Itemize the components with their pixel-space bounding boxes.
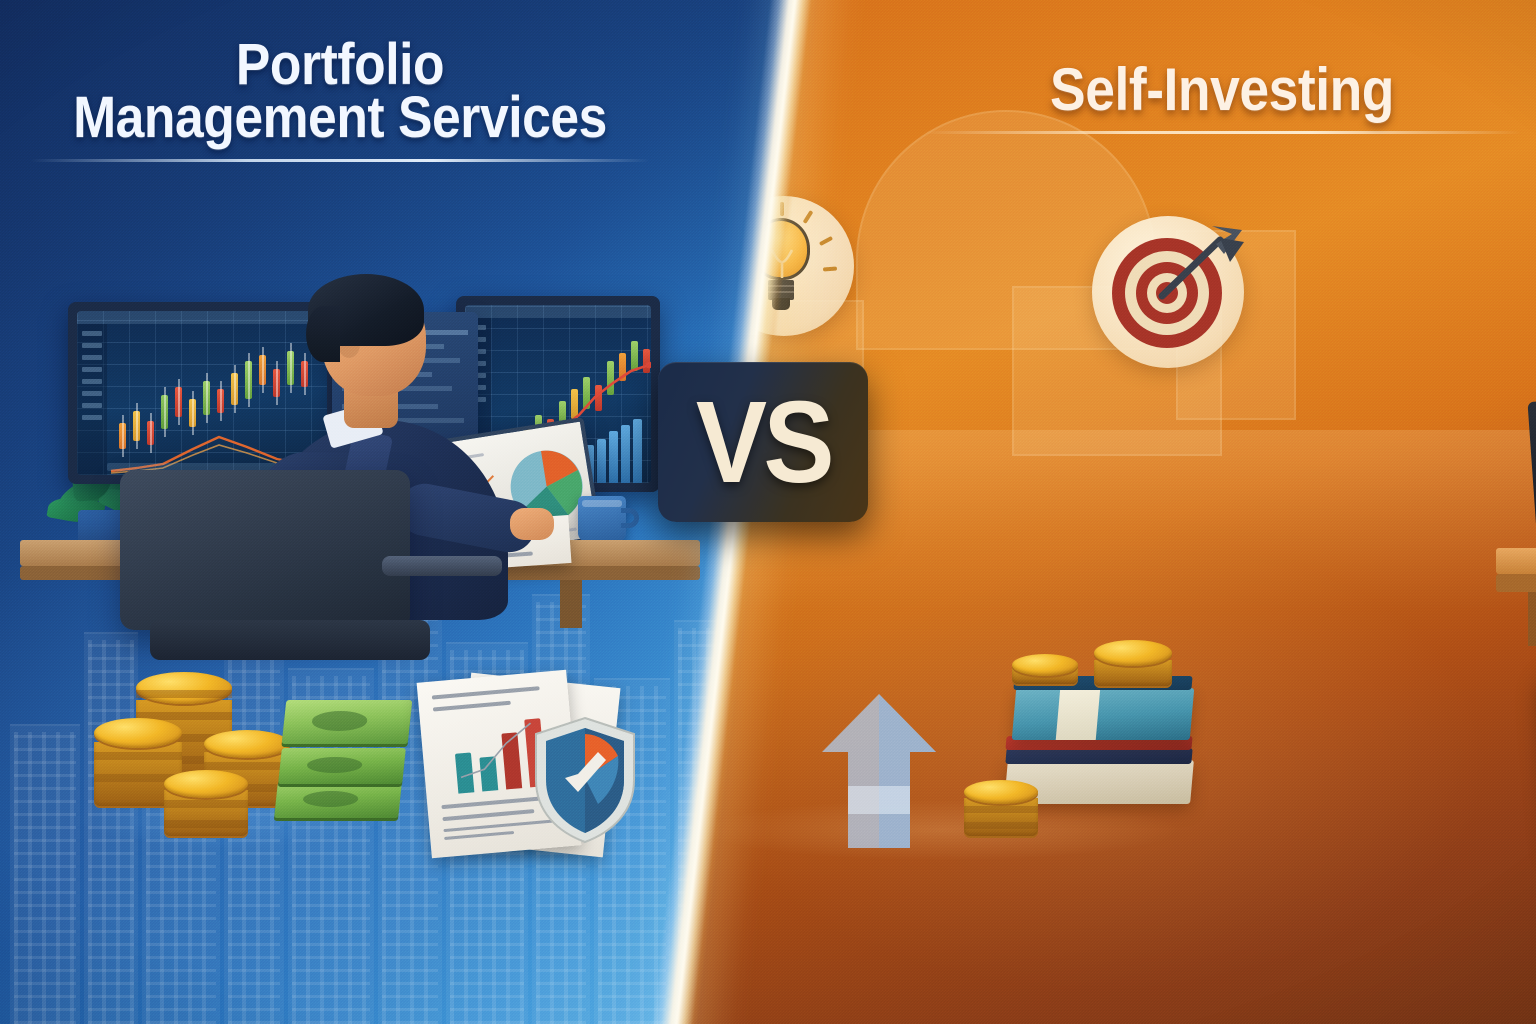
left-title-line1: Portfolio: [64, 38, 616, 91]
office-chair-left-seat: [150, 620, 430, 660]
vs-badge: VS: [658, 362, 868, 522]
right-title-line1: Self-Investing: [955, 62, 1489, 117]
target-dart-icon: [1092, 216, 1244, 368]
manager-hand: [510, 508, 554, 540]
dart-arrow-icon: [1146, 220, 1250, 310]
right-title-rule: [922, 131, 1522, 134]
office-chair-left-armrest: [382, 556, 502, 576]
vs-label: VS: [695, 375, 830, 509]
infographic-canvas: %: [0, 0, 1536, 1024]
left-title-line2: Management Services: [64, 91, 616, 144]
desk-left-leg: [560, 580, 582, 628]
coffee-mug: [578, 496, 626, 542]
growth-arrow-icon: [814, 690, 944, 852]
protection-shield-icon: [532, 716, 638, 844]
desk-right-edge: [1496, 574, 1536, 592]
left-panel-title: Portfolio Management Services: [30, 38, 650, 162]
target-dart-icon-circle: [1092, 216, 1244, 368]
office-chair-left: [120, 470, 410, 630]
right-panel-title: Self-Investing: [922, 62, 1522, 134]
desk-right-leg: [1528, 592, 1536, 646]
desk-right: [1496, 548, 1536, 574]
left-title-rule: [30, 159, 650, 162]
